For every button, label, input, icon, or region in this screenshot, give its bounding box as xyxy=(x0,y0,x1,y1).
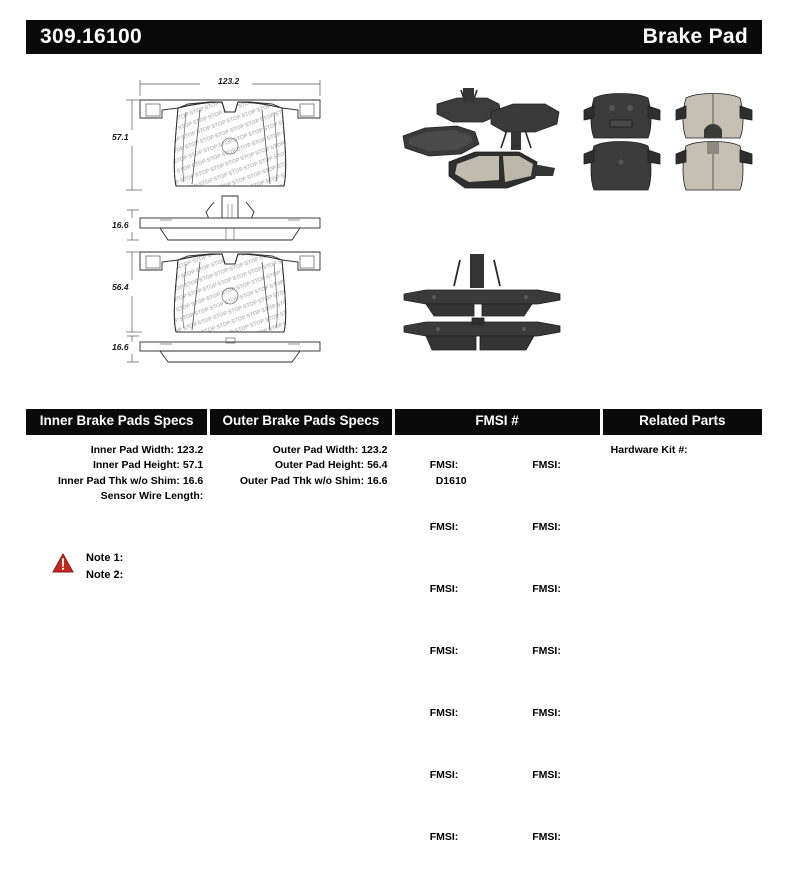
note-1: Note 1: xyxy=(86,550,123,567)
fmsi-label: FMSI: xyxy=(430,521,459,533)
page-title: Brake Pad xyxy=(643,25,748,49)
fmsi-label: FMSI: xyxy=(532,769,561,781)
fmsi-row: FMSI: xyxy=(401,753,498,815)
spec-row: Sensor Wire Length: xyxy=(26,489,203,505)
fmsi-value xyxy=(532,723,538,735)
fmsi-list: FMSI: D1610 FMSI: FMSI: FMSI: FMSI: xyxy=(395,443,600,877)
specs-table: Inner Brake Pads Specs Outer Brake Pads … xyxy=(26,409,762,877)
spec-value: 123.2 xyxy=(361,444,387,456)
note-lines: Note 1: Note 2: xyxy=(86,550,123,584)
fmsi-label: FMSI: xyxy=(532,645,561,657)
fmsi-row: FMSI: xyxy=(401,567,498,629)
fmsi-row: FMSI: xyxy=(503,443,600,505)
fmsi-row: FMSI: xyxy=(503,691,600,753)
fmsi-value xyxy=(532,599,538,611)
fmsi-value xyxy=(532,661,538,673)
spec-label: Inner Pad Thk w/o Shim: xyxy=(58,475,180,487)
fmsi-value xyxy=(430,847,436,859)
spec-value: 16.6 xyxy=(183,475,203,487)
fmsi-label: FMSI: xyxy=(532,707,561,719)
fmsi-label: FMSI: xyxy=(532,521,561,533)
fmsi-value xyxy=(532,785,538,797)
header-banner: 309.16100 Brake Pad xyxy=(26,20,762,54)
related-part-row: Hardware Kit #: xyxy=(611,443,762,459)
fmsi-label: FMSI: xyxy=(430,707,459,719)
warning-triangle-icon xyxy=(52,553,74,573)
fmsi-label: FMSI: xyxy=(532,831,561,843)
fmsi-value xyxy=(430,723,436,735)
fmsi-column-right: FMSI: FMSI: FMSI: FMSI: FMSI: xyxy=(497,443,600,877)
fmsi-label: FMSI: xyxy=(430,831,459,843)
table-header-row: Inner Brake Pads Specs Outer Brake Pads … xyxy=(26,409,762,435)
fmsi-row: FMSI: xyxy=(503,629,600,691)
fmsi-label: FMSI: xyxy=(430,583,459,595)
notes-section: Note 1: Note 2: xyxy=(52,550,123,584)
fmsi-row: FMSI: xyxy=(401,505,498,567)
spec-value: 123.2 xyxy=(177,444,203,456)
fmsi-value xyxy=(532,475,538,487)
fmsi-value xyxy=(430,785,436,797)
fmsi-value xyxy=(532,847,538,859)
fmsi-row: FMSI: xyxy=(503,567,600,629)
spec-label: Sensor Wire Length: xyxy=(101,490,204,502)
header-inner-specs: Inner Brake Pads Specs xyxy=(26,409,207,435)
spec-label: Outer Pad Thk w/o Shim: xyxy=(240,475,364,487)
spec-row: Outer Pad Height: 56.4 xyxy=(210,458,387,474)
fmsi-row: FMSI: xyxy=(401,691,498,753)
fmsi-value xyxy=(430,661,436,673)
fmsi-row: FMSI: xyxy=(401,815,498,877)
spec-value: 57.1 xyxy=(183,459,203,471)
fmsi-label: FMSI: xyxy=(430,459,459,471)
product-photo-top-views xyxy=(580,88,760,200)
fmsi-value xyxy=(430,599,436,611)
header-related-parts: Related Parts xyxy=(603,409,762,435)
note-2: Note 2: xyxy=(86,567,123,584)
fmsi-label: FMSI: xyxy=(532,583,561,595)
spec-label: Outer Pad Height: xyxy=(275,459,364,471)
spec-row: Inner Pad Thk w/o Shim: 16.6 xyxy=(26,474,203,490)
spec-label: Outer Pad Width: xyxy=(273,444,359,456)
fmsi-row: FMSI: D1610 xyxy=(401,443,498,505)
fmsi-row: FMSI: xyxy=(503,815,600,877)
header-fmsi: FMSI # xyxy=(395,409,600,435)
spec-label: Inner Pad Height: xyxy=(93,459,180,471)
spec-row: Inner Pad Height: 57.1 xyxy=(26,458,203,474)
fmsi-value xyxy=(532,537,538,549)
fmsi-value: D1610 xyxy=(430,475,467,487)
spec-value: 16.6 xyxy=(367,475,387,487)
fmsi-value xyxy=(430,537,436,549)
related-part-label: Hardware Kit #: xyxy=(611,444,688,456)
spec-label: Inner Pad Width: xyxy=(91,444,174,456)
line-art-drawings: STOP xyxy=(0,60,400,395)
fmsi-label: FMSI: xyxy=(430,769,459,781)
outer-specs-list: Outer Pad Width: 123.2 Outer Pad Height:… xyxy=(210,443,391,877)
fmsi-row: FMSI: xyxy=(401,629,498,691)
inner-specs-list: Inner Pad Width: 123.2 Inner Pad Height:… xyxy=(26,443,207,877)
fmsi-label: FMSI: xyxy=(532,459,561,471)
fmsi-column-left: FMSI: D1610 FMSI: FMSI: FMSI: FMSI: xyxy=(395,443,498,877)
fmsi-row: FMSI: xyxy=(503,753,600,815)
spec-row: Outer Pad Thk w/o Shim: 16.6 xyxy=(210,474,387,490)
spec-row: Inner Pad Width: 123.2 xyxy=(26,443,203,459)
fmsi-label: FMSI: xyxy=(430,645,459,657)
fmsi-row: FMSI: xyxy=(503,505,600,567)
product-photo-perspective xyxy=(395,88,565,198)
related-parts-list: Hardware Kit #: xyxy=(603,443,762,877)
table-body-row: Inner Pad Width: 123.2 Inner Pad Height:… xyxy=(26,435,762,877)
part-number: 309.16100 xyxy=(40,25,142,49)
header-outer-specs: Outer Brake Pads Specs xyxy=(210,409,391,435)
product-photo-edge-views xyxy=(398,254,568,359)
drawings-area: 123.2 57.1 16.6 56.4 16.6 STOP xyxy=(0,60,800,395)
spec-value: 56.4 xyxy=(367,459,387,471)
spec-row: Outer Pad Width: 123.2 xyxy=(210,443,387,459)
